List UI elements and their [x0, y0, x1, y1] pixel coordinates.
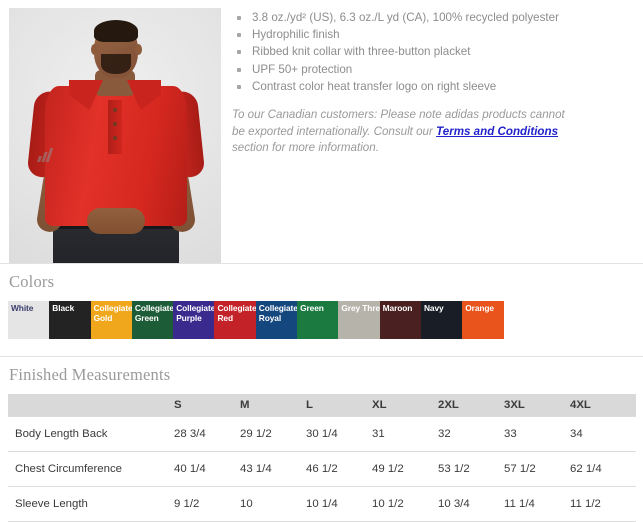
color-swatch[interactable]: Grey Three — [338, 301, 379, 339]
measurement-value: 34 — [570, 417, 636, 452]
color-swatch[interactable]: Orange — [462, 301, 503, 339]
color-swatch-label: Collegiate Royal — [259, 303, 297, 324]
polo-button — [113, 136, 117, 140]
measurement-value: 53 1/2 — [438, 452, 504, 487]
color-swatch-label: Grey Three — [341, 303, 379, 313]
table-row: Body Length Back28 3/429 1/230 1/4313233… — [8, 417, 636, 452]
color-swatch[interactable]: Navy — [421, 301, 462, 339]
color-swatch-label: Navy — [424, 303, 462, 313]
measurement-value: 29 1/2 — [240, 417, 306, 452]
adidas-logo-icon — [38, 148, 54, 162]
measurement-value: 40 1/4 — [174, 452, 240, 487]
canadian-customers-note: To our Canadian customers: Please note a… — [230, 107, 568, 157]
measurement-value: 46 1/2 — [306, 452, 372, 487]
color-swatch-label: Maroon — [383, 303, 421, 313]
finished-measurements-table: SMLXL2XL3XL4XL Body Length Back28 3/429 … — [8, 394, 636, 522]
color-swatch-label: Black — [52, 303, 90, 313]
color-swatch[interactable]: Collegiate Purple — [173, 301, 214, 339]
measurements-heading: Finished Measurements — [0, 357, 643, 394]
measurement-value: 31 — [372, 417, 438, 452]
table-header-row: SMLXL2XL3XL4XL — [8, 394, 636, 417]
column-header-size: S — [174, 394, 240, 417]
column-header-size: 3XL — [504, 394, 570, 417]
table-row: Chest Circumference40 1/443 1/446 1/249 … — [8, 452, 636, 487]
list-item: Contrast color heat transfer logo on rig… — [230, 78, 637, 95]
color-swatch-row: WhiteBlackCollegiate GoldCollegiate Gree… — [8, 301, 545, 339]
polo-button — [113, 122, 117, 126]
color-swatch[interactable]: Collegiate Green — [132, 301, 173, 339]
column-header-size: XL — [372, 394, 438, 417]
color-swatch-label: Collegiate Purple — [176, 303, 214, 324]
measurement-value: 30 1/4 — [306, 417, 372, 452]
model-beard — [101, 54, 131, 74]
color-swatch[interactable]: Black — [49, 301, 90, 339]
column-header-blank — [8, 394, 174, 417]
product-image[interactable] — [9, 8, 221, 263]
measurement-value: 57 1/2 — [504, 452, 570, 487]
color-swatch-label: Orange — [465, 303, 503, 313]
color-swatch-label: Collegiate Gold — [94, 303, 132, 324]
measurement-value: 28 3/4 — [174, 417, 240, 452]
measurement-value: 62 1/4 — [570, 452, 636, 487]
measurement-value: 33 — [504, 417, 570, 452]
column-header-size: L — [306, 394, 372, 417]
list-item: Ribbed knit collar with three-button pla… — [230, 43, 637, 60]
model-ear — [91, 44, 98, 55]
list-item: Hydrophilic finish — [230, 26, 637, 43]
measurement-label: Body Length Back — [8, 417, 174, 452]
color-swatch-label: Collegiate Green — [135, 303, 173, 324]
color-swatch[interactable]: White — [8, 301, 49, 339]
polo-button — [113, 108, 117, 112]
model-ear — [135, 44, 142, 55]
list-item: UPF 50+ protection — [230, 61, 637, 78]
color-swatch[interactable]: Collegiate Gold — [91, 301, 132, 339]
measurement-value: 49 1/2 — [372, 452, 438, 487]
product-overview: 3.8 oz./yd² (US), 6.3 oz./L yd (CA), 100… — [0, 0, 643, 263]
measurement-label: Chest Circumference — [8, 452, 174, 487]
color-swatch-label: Collegiate Red — [217, 303, 255, 324]
color-swatch[interactable]: Green — [297, 301, 338, 339]
column-header-size: 4XL — [570, 394, 636, 417]
list-item: 3.8 oz./yd² (US), 6.3 oz./L yd (CA), 100… — [230, 9, 637, 26]
color-swatch[interactable]: Collegiate Red — [214, 301, 255, 339]
note-text-after: section for more information. — [232, 141, 379, 154]
model-hair — [94, 20, 138, 42]
table-body: Body Length Back28 3/429 1/230 1/4313233… — [8, 417, 636, 522]
product-photo-illustration — [9, 8, 221, 263]
column-header-size: M — [240, 394, 306, 417]
color-swatch[interactable]: Maroon — [380, 301, 421, 339]
product-features: 3.8 oz./yd² (US), 6.3 oz./L yd (CA), 100… — [221, 0, 643, 168]
measurement-value: 43 1/4 — [240, 452, 306, 487]
table-header: SMLXL2XL3XL4XL — [8, 394, 636, 417]
column-header-size: 2XL — [438, 394, 504, 417]
color-swatch[interactable]: Collegiate Royal — [256, 301, 297, 339]
feature-list: 3.8 oz./yd² (US), 6.3 oz./L yd (CA), 100… — [230, 9, 637, 95]
model-hands — [87, 208, 145, 234]
terms-and-conditions-link[interactable]: Terms and Conditions — [436, 125, 558, 138]
colors-heading: Colors — [0, 264, 643, 301]
color-swatch-label: White — [11, 303, 49, 313]
color-swatch-label: Green — [300, 303, 338, 313]
measurement-value: 32 — [438, 417, 504, 452]
